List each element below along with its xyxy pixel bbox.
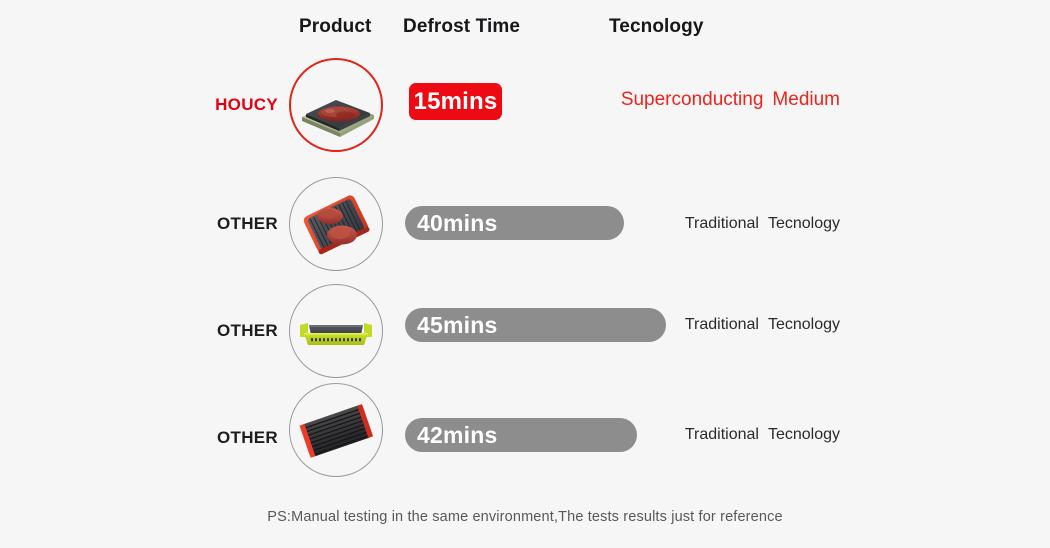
- defrosting-tray-black-ribbed-icon: [290, 384, 382, 476]
- technology-primary: Traditional: [685, 215, 759, 232]
- column-header-product: Product: [299, 16, 371, 38]
- technology-primary: Superconducting: [621, 89, 764, 110]
- brand-label: HOUCY: [118, 95, 278, 115]
- column-header-row: Product Defrost Time Tecnology: [0, 0, 1050, 50]
- comparison-row: OTHER: [0, 172, 1050, 277]
- comparison-chart: Product Defrost Time Tecnology HOUCY: [0, 0, 1050, 548]
- product-thumbnail-other-1: [289, 177, 383, 271]
- defrost-time-badge: 40mins: [405, 206, 624, 240]
- comparison-row: OTHER: [0, 378, 1050, 483]
- technology-secondary: Medium: [772, 89, 840, 110]
- technology-label: TraditionalTecnology: [685, 316, 840, 334]
- technology-primary: Traditional: [685, 426, 759, 443]
- technology-secondary: Tecnology: [768, 215, 840, 232]
- product-thumbnail-houcy: [289, 58, 383, 152]
- defrost-time-badge: 15mins: [409, 83, 502, 120]
- defrosting-tray-dark-with-steak-icon: [290, 59, 382, 151]
- column-header-technology: Tecnology: [609, 16, 704, 38]
- defrosting-tray-red-with-two-patties-icon: [290, 178, 382, 270]
- technology-secondary: Tecnology: [768, 426, 840, 443]
- comparison-row: OTHER: [0, 279, 1050, 384]
- technology-label: TraditionalTecnology: [685, 215, 840, 233]
- product-thumbnail-other-3: [289, 383, 383, 477]
- brand-label: OTHER: [118, 214, 278, 234]
- product-thumbnail-other-2: [289, 284, 383, 378]
- column-header-defrost-time: Defrost Time: [403, 16, 520, 38]
- defrosting-tray-green-front-view-icon: [290, 285, 382, 377]
- brand-label: OTHER: [118, 428, 278, 448]
- defrost-time-badge: 42mins: [405, 418, 637, 452]
- brand-label: OTHER: [118, 321, 278, 341]
- defrost-time-badge: 45mins: [405, 308, 666, 342]
- footnote-text: PS:Manual testing in the same environmen…: [0, 509, 1050, 525]
- comparison-row: HOUCY: [0, 53, 1050, 158]
- technology-secondary: Tecnology: [768, 316, 840, 333]
- technology-label: TraditionalTecnology: [685, 426, 840, 444]
- technology-label: SuperconductingMedium: [621, 89, 840, 111]
- technology-primary: Traditional: [685, 316, 759, 333]
